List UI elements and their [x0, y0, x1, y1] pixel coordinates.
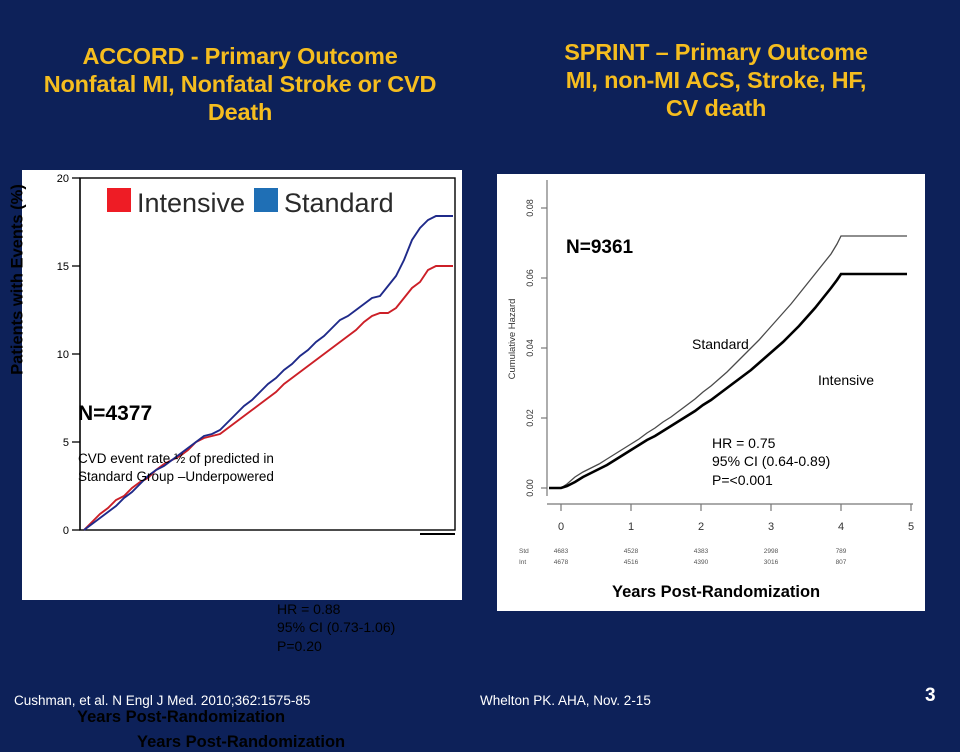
- sprint-y-tick-labels: 0.08 0.06 0.04 0.02 0.00: [525, 199, 535, 497]
- sprint-risk-table: Std Int 4683 4528 4383 2998 789 4678 451…: [519, 548, 847, 566]
- left-title-line-1: ACCORD - Primary Outcome: [0, 42, 480, 70]
- risk-int-3: 3016: [764, 559, 779, 566]
- legend-label-intensive: Intensive: [137, 188, 245, 219]
- legend-swatch-standard: [254, 188, 278, 212]
- accord-pvalue: P=0.20: [277, 637, 395, 655]
- svg-text:0: 0: [558, 521, 564, 533]
- risk-int-2: 4390: [694, 559, 709, 566]
- right-title-line-3: CV death: [490, 94, 942, 122]
- sprint-y-axis: [541, 180, 547, 496]
- right-chart-title: SPRINT – Primary Outcome MI, non-MI ACS,…: [490, 38, 942, 123]
- risk-row-label-std: Std: [519, 548, 529, 555]
- svg-text:5: 5: [63, 437, 69, 449]
- accord-x-axis-label: Years Post-Randomization: [77, 708, 285, 727]
- risk-int-1: 4516: [624, 559, 639, 566]
- svg-text:3: 3: [768, 521, 774, 533]
- slide-number: 3: [925, 685, 936, 707]
- sprint-x-axis-label: Years Post-Randomization: [612, 583, 820, 602]
- svg-text:0.04: 0.04: [525, 339, 535, 357]
- accord-n-label: N=4377: [78, 402, 152, 426]
- sprint-x-axis: [547, 504, 913, 511]
- sprint-pvalue: P=<0.001: [712, 471, 830, 489]
- sprint-ci: 95% CI (0.64-0.89): [712, 452, 830, 470]
- risk-int-0: 4678: [554, 559, 569, 566]
- left-title-line-2: Nonfatal MI, Nonfatal Stroke or CVD: [0, 70, 480, 98]
- svg-text:2: 2: [698, 521, 704, 533]
- footer-right-citation: Whelton PK. AHA, Nov. 2-15: [480, 693, 651, 708]
- legend-swatch-intensive: [107, 188, 131, 212]
- sprint-standard-curve-label: Standard: [692, 336, 749, 352]
- svg-text:0.08: 0.08: [525, 199, 535, 217]
- sprint-stats: HR = 0.75 95% CI (0.64-0.89) P=<0.001: [712, 434, 830, 489]
- risk-std-3: 2998: [764, 548, 779, 555]
- accord-note-line-2: Standard Group –Underpowered: [78, 468, 274, 486]
- accord-chart-panel: 20 15 10 5 0 Intensive Standard N=4377 C…: [22, 170, 462, 600]
- risk-row-label-int: Int: [519, 559, 526, 566]
- svg-text:15: 15: [57, 261, 69, 273]
- svg-text:0.00: 0.00: [525, 479, 535, 497]
- svg-text:20: 20: [57, 173, 69, 185]
- svg-text:4: 4: [838, 521, 844, 533]
- left-chart-title: ACCORD - Primary Outcome Nonfatal MI, No…: [0, 42, 480, 127]
- accord-stats: HR = 0.88 95% CI (0.73-1.06) P=0.20: [277, 600, 395, 655]
- sprint-plot-svg: 0.08 0.06 0.04 0.02 0.00 Cumulative Haza…: [497, 174, 925, 611]
- sprint-y-axis-label: Cumulative Hazard: [507, 299, 518, 380]
- svg-text:5: 5: [908, 521, 914, 533]
- right-title-line-1: SPRINT – Primary Outcome: [490, 38, 942, 66]
- accord-ci: 95% CI (0.73-1.06): [277, 618, 395, 636]
- sprint-hr: HR = 0.75: [712, 434, 830, 452]
- sprint-chart-panel: 0.08 0.06 0.04 0.02 0.00 Cumulative Haza…: [497, 174, 925, 611]
- accord-plot-svg: 20 15 10 5 0: [22, 170, 462, 600]
- legend-label-standard: Standard: [284, 188, 394, 219]
- footer-left-citation: Cushman, et al. N Engl J Med. 2010;362:1…: [14, 693, 310, 708]
- svg-text:0.02: 0.02: [525, 409, 535, 427]
- risk-std-4: 789: [836, 548, 847, 555]
- accord-y-axis-label: Patients with Events (%): [9, 130, 28, 430]
- risk-std-2: 4383: [694, 548, 709, 555]
- risk-int-4: 807: [836, 559, 847, 566]
- risk-std-0: 4683: [554, 548, 569, 555]
- risk-std-1: 4528: [624, 548, 639, 555]
- accord-y-tick-labels: 20 15 10 5 0: [57, 173, 69, 537]
- svg-text:0.06: 0.06: [525, 269, 535, 287]
- right-title-line-2: MI, non-MI ACS, Stroke, HF,: [490, 66, 942, 94]
- sprint-n-label: N=9361: [566, 237, 633, 259]
- accord-x-axis-label-duplicate: Years Post-Randomization: [137, 733, 345, 752]
- svg-text:0: 0: [63, 525, 69, 537]
- svg-text:10: 10: [57, 349, 69, 361]
- accord-note-line-1: CVD event rate ½ of predicted in: [78, 450, 274, 468]
- svg-text:1: 1: [628, 521, 634, 533]
- sprint-intensive-curve-label: Intensive: [818, 372, 874, 388]
- sprint-x-tick-labels: 0 1 2 3 4 5: [558, 521, 914, 533]
- accord-hr: HR = 0.88: [277, 600, 395, 618]
- left-title-line-3: Death: [0, 98, 480, 126]
- accord-note: CVD event rate ½ of predicted in Standar…: [78, 450, 274, 485]
